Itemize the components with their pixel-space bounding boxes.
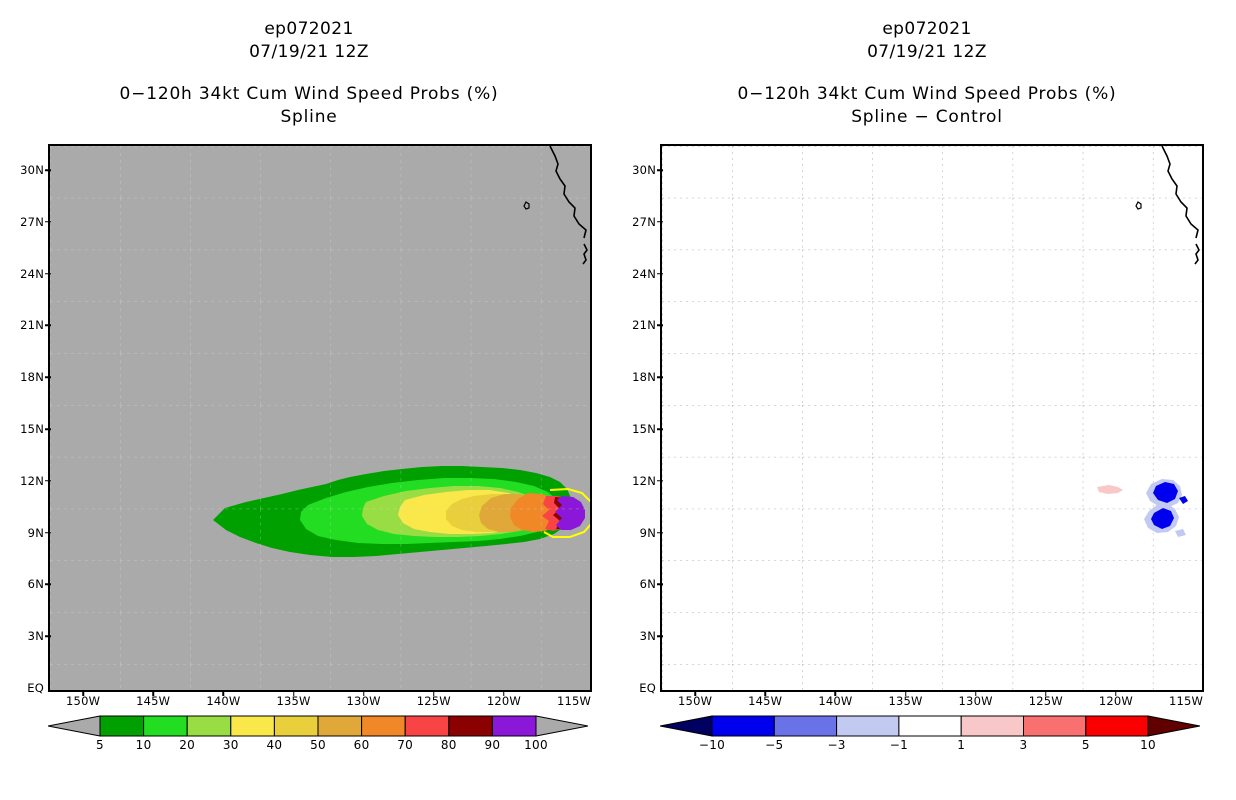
cbar-tick-50: 50 — [310, 738, 326, 752]
ytick-mark-15n — [45, 428, 51, 430]
cbar-tick-pos10: 10 — [1140, 738, 1156, 752]
storm-id-left: ep072021 — [0, 18, 618, 40]
cbar-tick-pos1: 1 — [957, 738, 965, 752]
ytick-label-9n: 9N — [0, 526, 44, 540]
xtick-mark-135w — [293, 690, 295, 696]
colorbar-extend-high-right — [1148, 716, 1200, 736]
datetime-right: 07/19/21 12Z — [618, 40, 1236, 64]
xtick-mark-125w — [433, 690, 435, 696]
cbar-tick-20: 20 — [179, 738, 195, 752]
colorbar-swatches-right — [660, 714, 1200, 738]
xtick-mark-120w-r — [1115, 690, 1117, 696]
xtick-label-135w-r: 135W — [888, 694, 922, 708]
ytick-label-eq: EQ — [0, 681, 44, 695]
cbar-tick-neg10: −10 — [699, 738, 725, 752]
xtick-label-135w: 135W — [276, 694, 310, 708]
ytick-mark-24n — [45, 273, 51, 275]
xtick-mark-120w — [503, 690, 505, 696]
map-plot-right — [660, 144, 1204, 692]
cbar-tick-pos5: 5 — [1082, 738, 1090, 752]
datetime-left: 07/19/21 12Z — [0, 40, 618, 64]
anomaly-layer-right — [662, 146, 1202, 690]
xtick-label-140w-r: 140W — [818, 694, 852, 708]
grid-overlay-right — [662, 146, 1202, 690]
cbar-tick-neg1: −1 — [890, 738, 908, 752]
storm-id-right: ep072021 — [618, 18, 1236, 40]
ytick-mark-21n — [45, 325, 51, 327]
map-canvas-right — [662, 146, 1202, 690]
chart-title-left: 0−120h 34kt Cum Wind Speed Probs (%) — [0, 82, 618, 106]
cbar-tick-60: 60 — [354, 738, 370, 752]
cbar-tick-neg5: −5 — [765, 738, 783, 752]
ytick-label-9n-r: 9N — [618, 526, 656, 540]
ytick-mark-12n-r — [657, 480, 663, 482]
ytick-label-12n-r: 12N — [618, 474, 656, 488]
panel-right-titles: ep072021 07/19/21 12Z 0−120h 34kt Cum Wi… — [618, 0, 1236, 128]
xtick-mark-125w-r — [1045, 690, 1047, 696]
ytick-mark-3n — [45, 635, 51, 637]
panel-left-titles: ep072021 07/19/21 12Z 0−120h 34kt Cum Wi… — [0, 0, 618, 128]
xtick-label-140w: 140W — [206, 694, 240, 708]
chart-subtitle-right: Spline − Control — [618, 106, 1236, 128]
ytick-label-18n: 18N — [0, 370, 44, 384]
ytick-mark-18n-r — [657, 376, 663, 378]
colorbar-left: 5 10 20 30 40 50 60 70 80 90 100 — [48, 714, 588, 760]
xtick-mark-145w — [152, 690, 154, 696]
ytick-label-30n-r: 30N — [618, 163, 656, 177]
ytick-mark-6n — [45, 584, 51, 586]
xtick-label-130w: 130W — [347, 694, 381, 708]
xtick-label-145w: 145W — [136, 694, 170, 708]
xtick-label-125w: 125W — [417, 694, 451, 708]
ytick-label-6n-r: 6N — [618, 577, 656, 591]
cbar-tick-30: 30 — [223, 738, 239, 752]
cbar-tick-10: 10 — [136, 738, 152, 752]
panel-spline-minus-control: ep072021 07/19/21 12Z 0−120h 34kt Cum Wi… — [618, 0, 1236, 800]
ytick-label-27n: 27N — [0, 215, 44, 229]
xtick-label-130w-r: 130W — [959, 694, 993, 708]
cbar-tick-80: 80 — [441, 738, 457, 752]
ytick-label-24n: 24N — [0, 267, 44, 281]
colorbar-blocks-left — [100, 716, 536, 736]
xtick-mark-140w — [223, 690, 225, 696]
ytick-mark-18n — [45, 376, 51, 378]
xtick-label-120w: 120W — [487, 694, 521, 708]
map-plot-left — [48, 144, 592, 692]
contour-layer-left — [50, 146, 590, 690]
xtick-mark-130w-r — [975, 690, 977, 696]
chart-subtitle-left: Spline — [0, 106, 618, 128]
xtick-mark-145w-r — [764, 690, 766, 696]
ytick-label-3n: 3N — [0, 629, 44, 643]
ytick-label-12n: 12N — [0, 474, 44, 488]
ytick-mark-30n — [45, 169, 51, 171]
map-canvas-left — [50, 146, 590, 690]
ytick-mark-12n — [45, 480, 51, 482]
ytick-label-24n-r: 24N — [618, 267, 656, 281]
cbar-tick-90: 90 — [484, 738, 500, 752]
ytick-label-21n-r: 21N — [618, 318, 656, 332]
ytick-mark-15n-r — [657, 428, 663, 430]
chart-page: ep072021 07/19/21 12Z 0−120h 34kt Cum Wi… — [0, 0, 1236, 800]
cbar-tick-70: 70 — [397, 738, 413, 752]
colorbar-right: −10 −5 −3 −1 1 3 5 10 — [660, 714, 1200, 760]
ytick-mark-30n-r — [657, 169, 663, 171]
ytick-label-15n-r: 15N — [618, 422, 656, 436]
chart-title-right: 0−120h 34kt Cum Wind Speed Probs (%) — [618, 82, 1236, 106]
panel-spline: ep072021 07/19/21 12Z 0−120h 34kt Cum Wi… — [0, 0, 618, 800]
ytick-mark-6n-r — [657, 584, 663, 586]
ytick-mark-27n-r — [657, 221, 663, 223]
ytick-mark-9n-r — [657, 532, 663, 534]
cbar-tick-100: 100 — [524, 738, 548, 752]
ytick-mark-21n-r — [657, 325, 663, 327]
ytick-mark-24n-r — [657, 273, 663, 275]
ytick-mark-27n — [45, 221, 51, 223]
colorbar-swatches-left — [48, 714, 588, 738]
colorbar-extend-low-left — [48, 716, 100, 736]
ytick-label-18n-r: 18N — [618, 370, 656, 384]
ytick-mark-9n — [45, 532, 51, 534]
xtick-mark-140w-r — [835, 690, 837, 696]
xtick-mark-130w — [363, 690, 365, 696]
grid-overlay-left — [50, 146, 590, 690]
colorbar-extend-low-right — [660, 716, 712, 736]
xtick-label-150w: 150W — [66, 694, 100, 708]
ytick-label-3n-r: 3N — [618, 629, 656, 643]
xtick-label-115w-r: 115W — [1169, 694, 1203, 708]
xtick-mark-150w — [82, 690, 84, 696]
xtick-mark-150w-r — [694, 690, 696, 696]
cbar-tick-40: 40 — [266, 738, 282, 752]
colorbar-extend-high-left — [536, 716, 588, 736]
xtick-label-125w-r: 125W — [1029, 694, 1063, 708]
xtick-label-120w-r: 120W — [1099, 694, 1133, 708]
ytick-label-21n: 21N — [0, 318, 44, 332]
xtick-label-145w-r: 145W — [748, 694, 782, 708]
ytick-label-27n-r: 27N — [618, 215, 656, 229]
ytick-label-30n: 30N — [0, 163, 44, 177]
xtick-label-150w-r: 150W — [678, 694, 712, 708]
ytick-label-eq-r: EQ — [618, 681, 656, 695]
cbar-tick-5: 5 — [96, 738, 104, 752]
colorbar-blocks-right — [712, 716, 1148, 736]
cbar-tick-pos3: 3 — [1020, 738, 1028, 752]
xtick-label-115w: 115W — [557, 694, 591, 708]
ytick-label-6n: 6N — [0, 577, 44, 591]
ytick-mark-3n-r — [657, 635, 663, 637]
ytick-label-15n: 15N — [0, 422, 44, 436]
cbar-tick-neg3: −3 — [827, 738, 845, 752]
xtick-mark-135w-r — [905, 690, 907, 696]
